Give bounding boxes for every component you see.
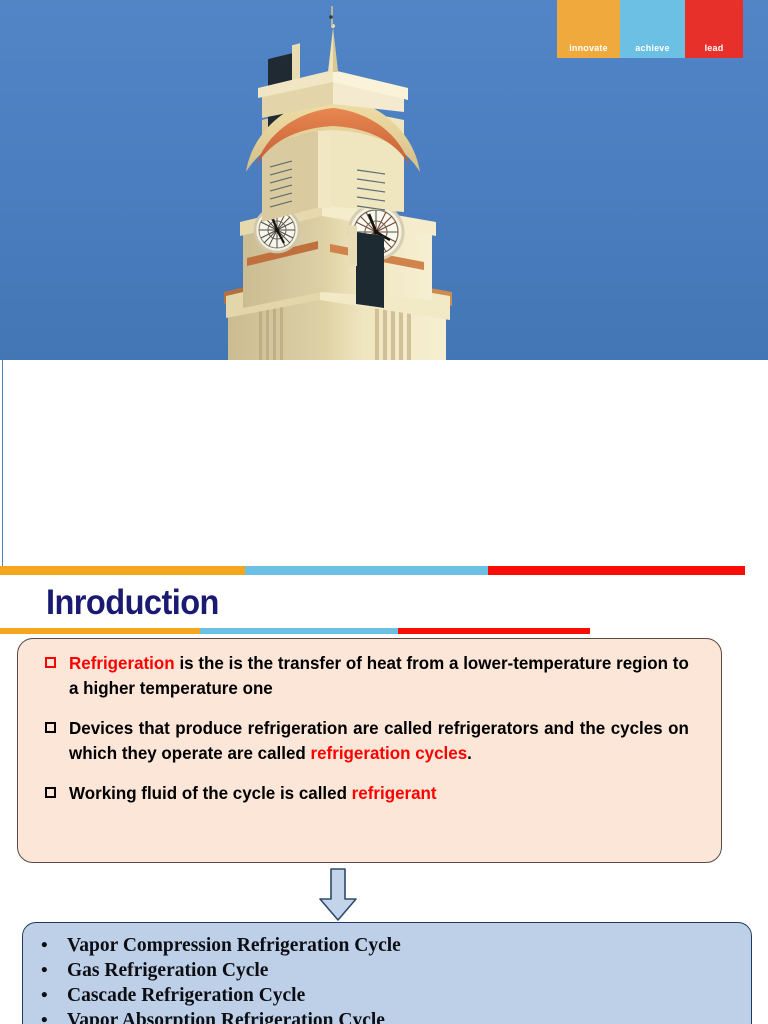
- square-bullet-icon: [45, 787, 56, 798]
- logo-panel-lead: lead: [685, 0, 743, 58]
- list-item: • Vapor Absorption Refrigeration Cycle: [23, 1008, 751, 1024]
- definition-body: Working fluid of the cycle is called: [69, 783, 352, 803]
- logo-label-innovate: innovate: [569, 43, 608, 58]
- dot-bullet-icon: •: [41, 1011, 67, 1024]
- cycle-list-box: • Vapor Compression Refrigeration Cycle …: [22, 922, 752, 1024]
- dot-bullet-icon: •: [41, 936, 67, 955]
- list-item-label: Vapor Compression Refrigeration Cycle: [67, 933, 401, 958]
- logo-label-achieve: achieve: [635, 43, 669, 58]
- logo-panel-achieve: achieve: [620, 0, 685, 58]
- slide-canvas: innovate achieve lead Inroduction Refrig…: [0, 0, 768, 1024]
- down-arrow-connector: [318, 868, 358, 922]
- divider-segment-orange: [0, 566, 245, 575]
- list-item: • Gas Refrigeration Cycle: [23, 958, 751, 983]
- list-item-label: Cascade Refrigeration Cycle: [67, 983, 305, 1008]
- definition-bullet: Refrigeration is the is the transfer of …: [31, 651, 708, 702]
- square-bullet-icon: [45, 722, 56, 733]
- divider-bar-top: [0, 566, 745, 575]
- header-photo-band: innovate achieve lead: [0, 0, 768, 360]
- dot-bullet-icon: •: [41, 961, 67, 980]
- arrow-down-icon: [318, 868, 358, 922]
- list-item-label: Gas Refrigeration Cycle: [67, 958, 268, 983]
- logo-label-lead: lead: [705, 43, 724, 58]
- left-vertical-rule: [2, 360, 3, 566]
- divider-bar-middle: [0, 628, 590, 634]
- definition-bullet-text: Refrigeration is the is the transfer of …: [69, 651, 689, 702]
- definition-bullet-text: Working fluid of the cycle is called ref…: [69, 781, 689, 806]
- definition-bullet-text: Devices that produce refrigeration are c…: [69, 716, 689, 767]
- highlight-term: refrigeration cycles: [311, 743, 468, 763]
- definition-body-tail: .: [467, 743, 472, 763]
- list-item: • Cascade Refrigeration Cycle: [23, 983, 751, 1008]
- brand-logo: innovate achieve lead: [557, 0, 743, 58]
- highlight-term: Refrigeration: [69, 653, 175, 673]
- highlight-term: refrigerant: [352, 783, 437, 803]
- list-item-label: Vapor Absorption Refrigeration Cycle: [67, 1008, 385, 1024]
- page-title: Inroduction: [46, 585, 219, 620]
- logo-panel-innovate: innovate: [557, 0, 620, 58]
- divider-segment-red: [488, 566, 745, 575]
- divider-segment-blue: [200, 628, 398, 634]
- definition-bullet: Devices that produce refrigeration are c…: [31, 716, 708, 767]
- dot-bullet-icon: •: [41, 986, 67, 1005]
- cycle-list: • Vapor Compression Refrigeration Cycle …: [23, 933, 751, 1024]
- divider-segment-red: [398, 628, 590, 634]
- square-bullet-icon: [45, 657, 56, 668]
- divider-segment-orange: [0, 628, 200, 634]
- definition-bullet: Working fluid of the cycle is called ref…: [31, 781, 708, 806]
- divider-segment-blue: [245, 566, 488, 575]
- list-item: • Vapor Compression Refrigeration Cycle: [23, 933, 751, 958]
- definition-box: Refrigeration is the is the transfer of …: [17, 638, 722, 863]
